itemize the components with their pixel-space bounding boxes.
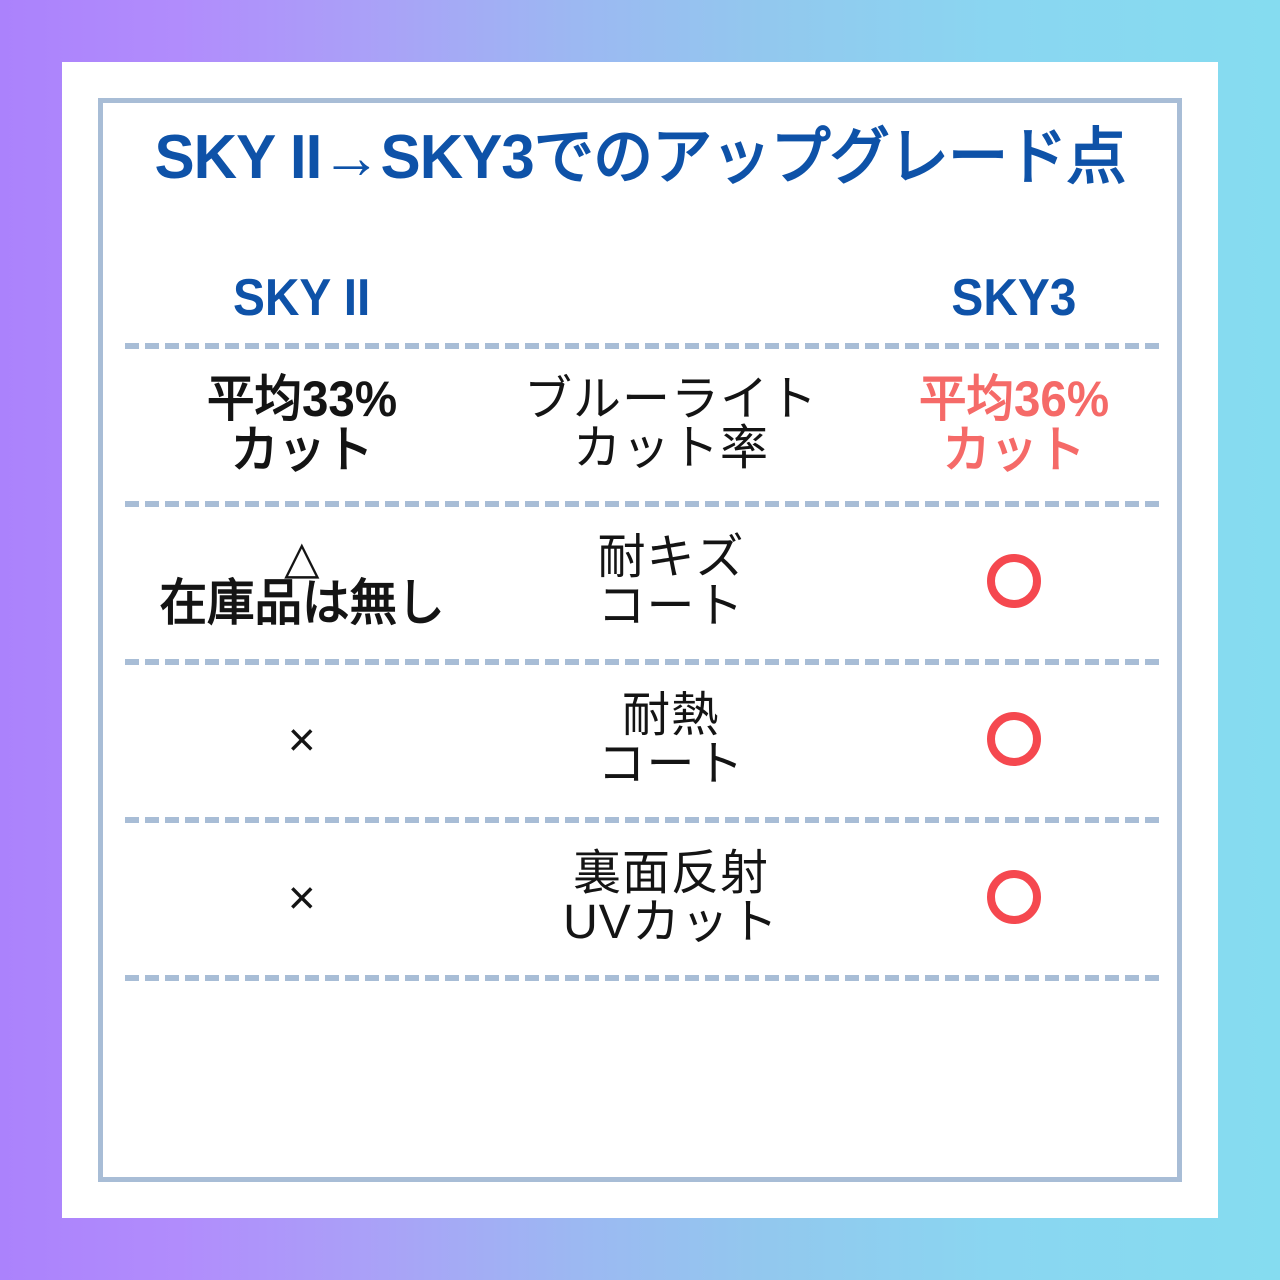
row3-cell-feature: 耐熱 コート — [479, 692, 864, 790]
row3-feature-line1: 耐熱 — [622, 689, 720, 742]
circle-icon — [987, 554, 1041, 608]
row1-cell-sky3: 平均36% カット — [863, 374, 1165, 476]
row1-sky3-line1: 平均36% — [919, 371, 1109, 427]
row3-cell-sky3 — [863, 712, 1165, 771]
row2-sky2-note: 在庫品は無し — [159, 578, 444, 629]
row1-sky2-value: 平均33% カット — [207, 374, 397, 476]
row1-cell-sky2: 平均33% カット — [125, 374, 479, 476]
column-header-sky3: SKY3 — [952, 272, 1077, 324]
row4-cell-feature: 裏面反射 UVカット — [479, 850, 864, 948]
row2-cell-sky3 — [863, 554, 1165, 613]
row2-cell-feature: 耐キズ コート — [479, 534, 864, 632]
row2-sky2-value: △ 在庫品は無し — [152, 537, 452, 629]
header-cell-left: SKY II — [125, 272, 479, 324]
cross-icon: × — [288, 872, 316, 925]
circle-icon — [987, 712, 1041, 766]
row4-cell-sky3 — [863, 870, 1165, 929]
row4-feature-line2: UVカット — [563, 896, 779, 949]
table-row: × 耐熱 コート — [125, 665, 1165, 817]
row1-sky3-value: 平均36% カット — [919, 374, 1109, 476]
triangle-icon: △ — [152, 537, 452, 578]
row2-feature-line2: コート — [597, 580, 744, 633]
row1-feature-label: ブルーライト カット率 — [524, 376, 818, 474]
table-row: 平均33% カット ブルーライト カット率 平均36% カット — [125, 349, 1165, 501]
row2-feature-label: 耐キズ コート — [597, 534, 744, 632]
row4-feature-label: 裏面反射 UVカット — [563, 850, 779, 948]
divider-5 — [125, 975, 1165, 981]
circle-icon — [987, 870, 1041, 924]
row1-sky3-line2: カット — [943, 422, 1086, 478]
row1-feature-line1: ブルーライト — [524, 373, 818, 426]
header-cell-mid — [479, 289, 864, 307]
row4-feature-line1: 裏面反射 — [573, 847, 769, 900]
row4-cell-sky2: × — [125, 875, 479, 923]
row1-sky2-line1: 平均33% — [207, 371, 397, 427]
header-cell-right: SKY3 — [863, 272, 1165, 324]
table-row: △ 在庫品は無し 耐キズ コート — [125, 507, 1165, 659]
table-row: × 裏面反射 UVカット — [125, 823, 1165, 975]
row2-cell-sky2: △ 在庫品は無し — [125, 537, 479, 629]
inner-frame-border: SKY II→SKY3でのアップグレード点 SKY II SKY3 — [98, 98, 1182, 1182]
column-header-sky2: SKY II — [233, 272, 370, 324]
row3-feature-label: 耐熱 コート — [597, 692, 744, 790]
white-card: SKY II→SKY3でのアップグレード点 SKY II SKY3 — [62, 62, 1218, 1218]
row1-cell-feature: ブルーライト カット率 — [479, 376, 864, 474]
row2-feature-line1: 耐キズ — [597, 531, 744, 584]
row1-feature-line2: カット率 — [573, 422, 769, 475]
row3-feature-line2: コート — [597, 738, 744, 791]
table-header-row: SKY II SKY3 — [125, 253, 1165, 343]
gradient-backdrop: SKY II→SKY3でのアップグレード点 SKY II SKY3 — [0, 0, 1280, 1280]
cross-icon: × — [288, 714, 316, 767]
row1-sky2-line2: カット — [231, 422, 373, 478]
page-title: SKY II→SKY3でのアップグレード点 — [119, 127, 1161, 189]
comparison-table: SKY II SKY3 平均33% カット — [125, 253, 1165, 981]
row3-cell-sky2: × — [125, 717, 479, 765]
